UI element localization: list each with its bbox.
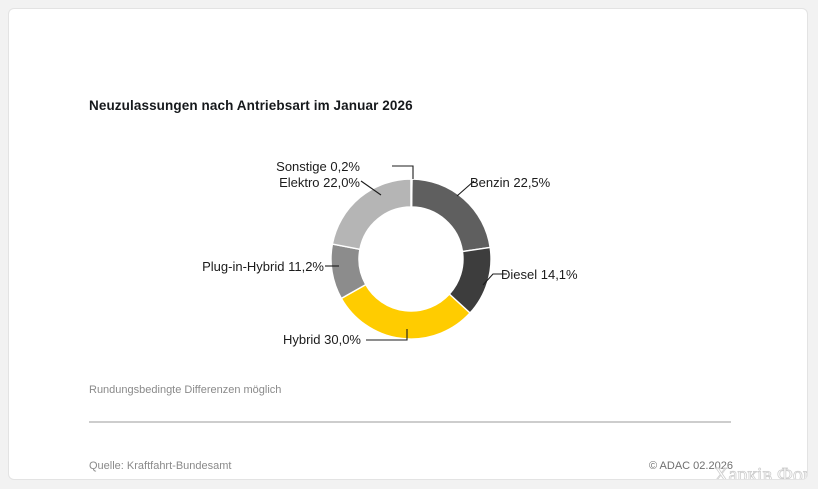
slice-label-elektro: Elektro 22,0% xyxy=(175,175,360,190)
donut-chart: Sonstige 0,2% Elektro 22,0% Benzin 22,5%… xyxy=(9,9,808,480)
chart-card: Neuzulassungen nach Antriebsart im Janua… xyxy=(8,8,808,480)
rounding-note: Rundungsbedingte Differenzen möglich xyxy=(89,384,281,396)
footer-divider xyxy=(89,421,731,423)
slice-sonstige[interactable] xyxy=(411,179,412,207)
leader-line-sonstige xyxy=(392,166,413,179)
copyright-label: © ADAC 02.2026 xyxy=(649,460,733,472)
slice-label-sonstige: Sonstige 0,2% xyxy=(175,159,360,174)
slice-label-diesel: Diesel 14,1% xyxy=(501,267,578,282)
page-background: Neuzulassungen nach Antriebsart im Janua… xyxy=(0,0,818,489)
slice-label-plug-in-hybrid: Plug-in-Hybrid 11,2% xyxy=(119,259,324,274)
donut-chart-svg xyxy=(9,9,808,480)
slice-label-benzin: Benzin 22,5% xyxy=(470,175,550,190)
source-label: Quelle: Kraftfahrt-Bundesamt xyxy=(89,460,231,472)
slice-label-hybrid: Hybrid 30,0% xyxy=(169,332,361,347)
